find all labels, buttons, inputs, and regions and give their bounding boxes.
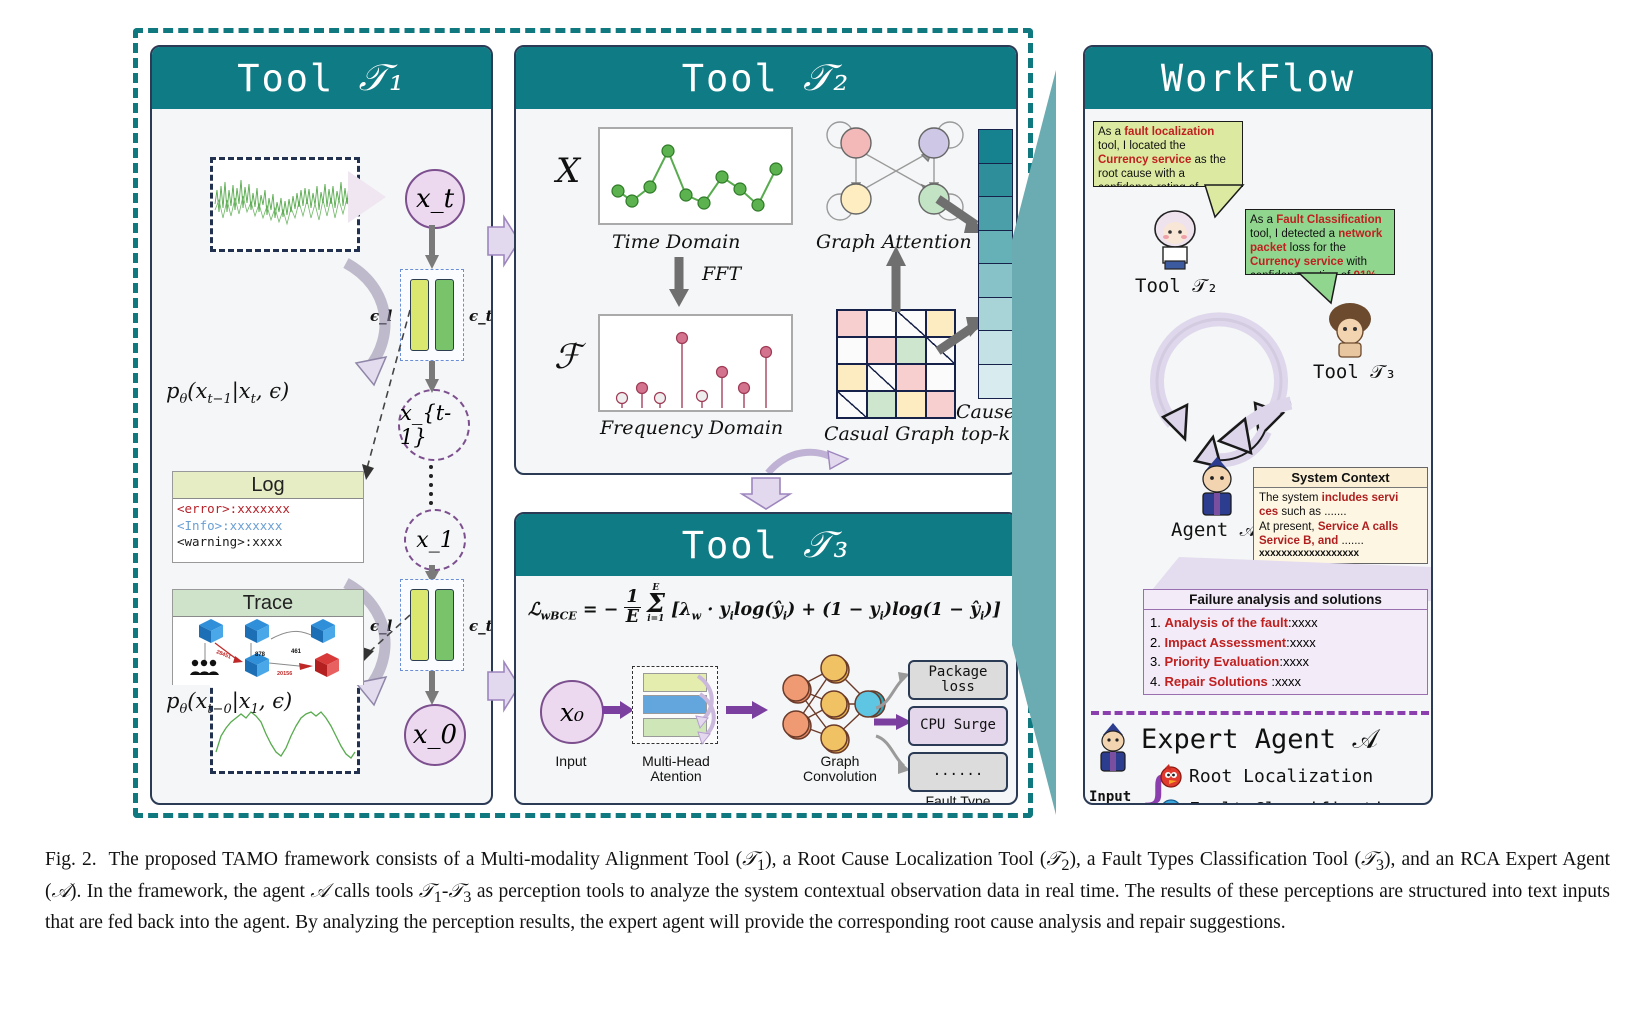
tool-t3-title: Tool — [682, 524, 779, 567]
mha-line1: Multi-Head — [642, 753, 710, 769]
epsilon-t-top: ϵ_t — [469, 307, 493, 325]
tool-t2-title: Tool — [682, 57, 779, 100]
tool-t2-body: X ℱ Time Domain F — [516, 109, 1016, 475]
matrix-cell — [867, 391, 897, 418]
label-agent: Agent 𝒜 — [1171, 519, 1258, 541]
matrix-cell — [867, 337, 897, 364]
input-set-item-label: Fault Classification — [1189, 799, 1406, 806]
topk-cell — [979, 331, 1012, 365]
node-x1: x_1 — [404, 509, 466, 571]
node-xt-label: x_t — [416, 184, 454, 214]
trace-graph: 28451 878 461 20156 — [173, 617, 363, 685]
formula-reverse-step-bottom: pθ(xt−0|x1, ϵ) — [166, 689, 292, 717]
workflow-body: As a fault localization tool, I located … — [1085, 109, 1431, 805]
topk-cell — [979, 231, 1012, 265]
tool2-speech-bubble: As a fault localization tool, I located … — [1093, 121, 1243, 187]
mha-line2: Atention — [650, 768, 701, 784]
blue-bird-icon — [1159, 797, 1183, 805]
matrix-cell — [896, 391, 926, 418]
tool-t3-panel: Tool 𝒯₃ ℒwBCE = − 1 E E Σ i=1 [λw · yilo… — [514, 512, 1018, 805]
topk-cell — [979, 164, 1012, 198]
tool-t3-subscript: 𝒯₃ — [803, 523, 850, 567]
time-domain-plot — [598, 127, 793, 225]
input-set-item-root-localization: Root Localization — [1159, 764, 1373, 788]
node-x0-input: x₀ — [540, 680, 604, 744]
red-bird-icon — [1159, 764, 1183, 788]
fault-type-other: ...... — [908, 752, 1008, 792]
matrix-cell — [926, 391, 956, 418]
log-line-error: <error>:xxxxxxx — [177, 501, 359, 518]
formula-reverse-step-top: pθ(xt−1|xt, ϵ) — [166, 379, 289, 407]
figure-root: Tool 𝒯₁ x_t — [0, 0, 1649, 1035]
sysctx-line-4: Service B, and ....... — [1259, 534, 1422, 548]
expert-agent-avatar — [1091, 721, 1137, 773]
topk-cell — [979, 298, 1012, 332]
tool-t1-subscript: 𝒯₁ — [359, 56, 406, 100]
sysctx-line-2: ces such as ....... — [1259, 505, 1422, 519]
symbol-X: X — [556, 151, 580, 191]
matrix-cell — [896, 337, 926, 364]
matrix-cell — [896, 310, 926, 337]
tool-t1-header: Tool 𝒯₁ — [152, 47, 491, 109]
fault-type-package-loss: Package loss — [908, 660, 1008, 700]
dashed-link-embed-log — [352, 304, 422, 484]
tool-t2-panel: Tool 𝒯₂ X ℱ Time Domain — [514, 45, 1018, 475]
label-frequency-domain: Frequency Domain — [600, 417, 783, 439]
input-set-item-fault-classification: Fault Classification — [1159, 797, 1406, 805]
epsilon-t-bottom: ϵ_t — [469, 617, 493, 635]
curved-arrow-t2-bottom — [762, 439, 852, 475]
tool-t1-panel: Tool 𝒯₁ x_t — [150, 45, 493, 805]
topk-cell — [979, 264, 1012, 298]
system-context-title: System Context — [1254, 468, 1427, 488]
matrix-cell — [896, 364, 926, 391]
label-tool3-workflow: Tool 𝒯₃ — [1313, 361, 1396, 383]
label-fft: FFT — [702, 263, 741, 285]
workflow-panel: WorkFlow As a fault localization tool, I… — [1083, 45, 1433, 805]
tool-t1-body: x_t ϵ_l ϵ_t x_{t-1} x — [152, 109, 491, 805]
failure-item-1: 1. Analysis of the fault:xxxx — [1150, 613, 1421, 633]
bubble1-tail — [1203, 185, 1249, 219]
divider-dashed-purple — [1091, 711, 1429, 715]
topk-cell — [979, 130, 1012, 164]
vertical-dots — [429, 465, 433, 507]
gcn-line1: Graph — [821, 753, 860, 769]
matrix-cell — [837, 391, 867, 418]
noisy-signal-plot — [210, 157, 360, 252]
label-topk: top-k — [956, 423, 1015, 445]
node-x0: x_0 — [404, 704, 466, 766]
attention-loop-arrows — [694, 670, 724, 742]
trace-edge-label-4: 20156 — [277, 671, 292, 677]
loss-formula: ℒwBCE = − 1 E E Σ i=1 [λw · yilog(ŷi) + … — [528, 584, 1001, 627]
arrow-fft — [666, 257, 692, 309]
failure-item-3: 3. Priority Evaluation:xxxx — [1150, 652, 1421, 672]
cause-topk-bar — [978, 129, 1013, 399]
figure-caption: Fig. 2. The proposed TAMO framework cons… — [45, 845, 1610, 937]
node-xt: x_t — [405, 169, 465, 229]
failure-item-4: 4. Repair Solutions :xxxx — [1150, 672, 1421, 692]
arrow-matrix-up — [884, 244, 908, 312]
topk-cell — [979, 197, 1012, 231]
label-multi-head-attention: Multi-Head Atention — [628, 754, 724, 785]
fault-type-cpu-surge: CPU Surge — [908, 706, 1008, 746]
topk-cell — [979, 365, 1012, 399]
label-input: Input — [542, 754, 600, 769]
input-set-line1: Input — [1089, 789, 1131, 805]
input-set-label: Input set — [1089, 789, 1131, 805]
matrix-cell — [837, 364, 867, 391]
symbol-F: ℱ — [554, 337, 581, 377]
arrow-x0-to-mha — [602, 696, 634, 724]
tool-t2-subscript: 𝒯₂ — [803, 56, 850, 100]
matrix-cell — [837, 337, 867, 364]
trace-card-title: Trace — [173, 590, 363, 617]
workflow-header: WorkFlow — [1085, 47, 1431, 109]
node-x0-label: x_0 — [413, 720, 457, 750]
label-tool2-workflow: Tool 𝒯₂ — [1135, 275, 1218, 297]
frequency-domain-plot — [598, 314, 793, 412]
trace-edge-label-2: 878 — [255, 652, 266, 658]
failure-item-2: 2. Impact Assessment:xxxx — [1150, 633, 1421, 653]
arrow-mha-to-gcn — [726, 696, 768, 724]
trace-card: Trace — [172, 589, 364, 685]
tool-t3-header: Tool 𝒯₃ — [516, 514, 1016, 576]
log-card-lines: <error>:xxxxxxx <Info>:xxxxxxx <warning>… — [173, 499, 363, 553]
arrow-context-to-agent — [1217, 399, 1295, 465]
tool2-avatar — [1147, 207, 1203, 271]
workflow-title: WorkFlow — [1161, 57, 1355, 100]
log-card: Log <error>:xxxxxxx <Info>:xxxxxxx <warn… — [172, 471, 364, 563]
tool-t3-body: ℒwBCE = − 1 E E Σ i=1 [λw · yilog(ŷi) + … — [516, 576, 1016, 805]
tool3-avatar — [1323, 301, 1377, 359]
trace-edge-label-1: 28451 — [215, 649, 231, 660]
tool-t2-header: Tool 𝒯₂ — [516, 47, 1016, 109]
log-card-title: Log — [173, 472, 363, 499]
tool3-speech-bubble: As a Fault Classification tool, I detect… — [1245, 209, 1395, 275]
matrix-cell — [926, 364, 956, 391]
log-line-warning: <warning>:xxxx — [177, 534, 359, 551]
funnel-arrow-to-workflow — [1012, 70, 1092, 815]
node-x1-label: x_1 — [416, 528, 453, 553]
label-time-domain: Time Domain — [612, 231, 740, 253]
tool-t1-title: Tool — [237, 57, 334, 100]
sysctx-line-1: The system includes servi — [1259, 491, 1422, 505]
matrix-cell — [867, 310, 897, 337]
label-cause: Cause — [956, 401, 1015, 423]
log-line-info: <Info>:xxxxxxx — [177, 518, 359, 535]
matrix-cell — [837, 310, 867, 337]
system-context-body: The system includes servi ces such as ..… — [1254, 488, 1427, 563]
label-fault-type: Fault Type — [908, 794, 1008, 805]
label-cause-topk: Cause top-k — [956, 401, 1015, 445]
trace-edge-label-3: 461 — [291, 649, 302, 655]
failure-analysis-box: Failure analysis and solutions 1. Analys… — [1143, 589, 1428, 695]
system-context-box: System Context The system includes servi… — [1253, 467, 1428, 564]
expert-agent-title: Expert Agent 𝒜 — [1141, 724, 1378, 756]
node-x0-input-label: x₀ — [560, 698, 584, 727]
input-set-item-label: Root Localization — [1189, 766, 1373, 787]
arrow-t2-to-t3 — [740, 476, 796, 512]
gcn-line2: Convolution — [803, 768, 877, 784]
failure-box-title: Failure analysis and solutions — [1144, 590, 1427, 610]
sysctx-line-3: At present, Service A calls — [1259, 520, 1422, 534]
matrix-cell — [867, 364, 897, 391]
